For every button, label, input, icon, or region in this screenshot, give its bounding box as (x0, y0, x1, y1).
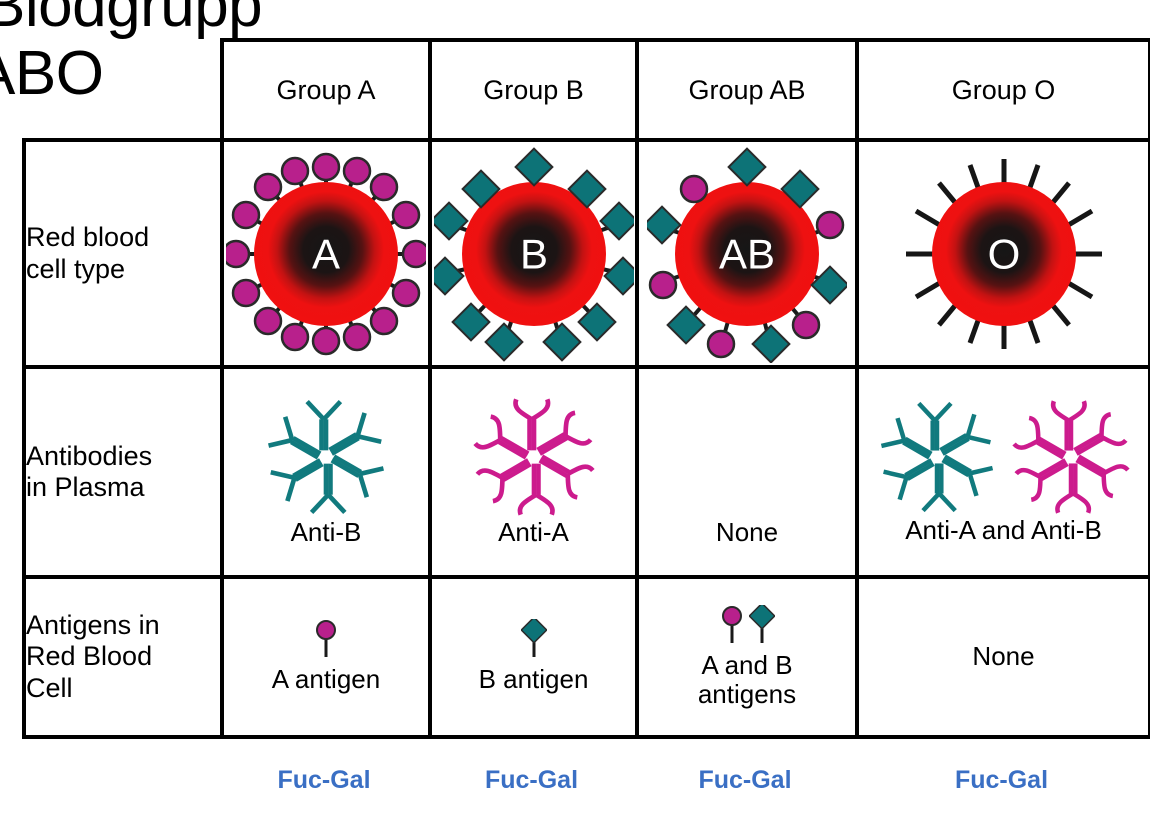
rbc-cell-group-a: A (222, 140, 430, 367)
fucgal-label: Fuc-Gal (277, 766, 370, 795)
a-antigen-icon (313, 619, 339, 661)
column-header-group-o: Group O (857, 40, 1150, 140)
anti-a-antibody-icon (1006, 398, 1136, 516)
row-label-line: Red Blood (26, 641, 220, 672)
fucgal-label: Fuc-Gal (955, 766, 1048, 795)
row-label-line: Red blood (26, 222, 220, 253)
rbc-cell-group-b: B (430, 140, 637, 367)
blood-group-table: Group A Group B Group AB Group O Red blo… (22, 38, 1150, 739)
table-row: Red blood cell type (24, 140, 1150, 367)
antibody-cell-group-a: Anti-B (222, 367, 430, 577)
blood-group-chart: Blodgrupp ABO Group A Group B Group AB G… (0, 0, 1150, 828)
column-header-group-b: Group B (430, 40, 637, 140)
b-antigen-icon (749, 605, 775, 647)
antigen-caption-line: A and B (698, 651, 796, 680)
rbc-cell-group-o: O (857, 140, 1150, 367)
row-label-red-blood-cell-type: Red blood cell type (24, 140, 222, 367)
antibody-caption-group-ab: None (716, 518, 778, 547)
red-blood-cell-ab-icon: AB (647, 145, 847, 363)
antibody-cell-group-o: Anti-A and Anti-B (857, 367, 1150, 577)
fucgal-label: Fuc-Gal (698, 766, 791, 795)
antigen-icon-group (521, 619, 547, 661)
rbc-letter-ab: AB (719, 230, 775, 277)
antibody-cell-group-ab: None (637, 367, 857, 577)
table-corner-blank (24, 40, 222, 140)
row-label-line: Antigens in (26, 610, 220, 641)
antibody-caption-group-b: Anti-A (498, 518, 569, 547)
antigen-icon-group (313, 619, 339, 661)
antibody-caption-group-a: Anti-B (291, 518, 362, 547)
red-blood-cell-a-icon: A (226, 145, 426, 363)
antibody-cluster-anti-a-and-anti-b (872, 398, 1136, 516)
antigen-caption-group-a: A antigen (272, 665, 380, 694)
antigen-cell-group-a: A antigen (222, 577, 430, 737)
antibody-cluster-anti-a (465, 396, 603, 518)
table-header-row: Group A Group B Group AB Group O (24, 40, 1150, 140)
antigen-cell-group-ab: A and B antigens (637, 577, 857, 737)
antigen-icon-group (719, 605, 775, 647)
row-label-line: cell type (26, 254, 220, 285)
red-blood-cell-b-icon: B (434, 145, 634, 363)
rbc-letter-b: B (519, 230, 547, 277)
rbc-letter-o: O (987, 230, 1020, 277)
fucgal-cell-group-a: Fuc-Gal (220, 760, 428, 800)
fucgal-cell-group-ab: Fuc-Gal (635, 760, 855, 800)
rbc-illustration-group-o: O (859, 142, 1148, 365)
row-label-line: Antibodies (26, 441, 220, 472)
rbc-illustration-group-ab: AB (639, 142, 855, 365)
rbc-letter-a: A (312, 230, 340, 277)
antibody-cell-group-b: Anti-A (430, 367, 637, 577)
rbc-cell-group-ab: AB (637, 140, 857, 367)
column-header-group-a: Group A (222, 40, 430, 140)
b-antigen-icon (521, 619, 547, 661)
fucgal-cell-group-o: Fuc-Gal (855, 760, 1148, 800)
antibody-caption-group-o: Anti-A and Anti-B (905, 516, 1102, 545)
a-antigen-icon (719, 605, 745, 647)
fucgal-label: Fuc-Gal (485, 766, 578, 795)
anti-a-antibody-icon (465, 396, 603, 518)
row-label-line: Cell (26, 673, 220, 704)
table-row: Antigens in Red Blood Cell A antigen (24, 577, 1150, 737)
rbc-illustration-group-b: B (432, 142, 635, 365)
row-label-line: in Plasma (26, 472, 220, 503)
antigen-caption-group-o: None (972, 642, 1034, 671)
antigen-cell-group-o: None (857, 577, 1150, 737)
anti-b-antibody-icon (257, 396, 395, 518)
red-blood-cell-o-icon: O (904, 145, 1104, 363)
antigen-caption-line: antigens (698, 680, 796, 709)
column-header-group-ab: Group AB (637, 40, 857, 140)
antigen-cell-group-b: B antigen (430, 577, 637, 737)
antigen-caption-group-ab: A and B antigens (698, 651, 796, 709)
rbc-illustration-group-a: A (224, 142, 428, 365)
row-label-antibodies-in-plasma: Antibodies in Plasma (24, 367, 222, 577)
fucgal-footer-row: Fuc-Gal Fuc-Gal Fuc-Gal Fuc-Gal (220, 760, 1148, 800)
anti-b-antibody-icon (872, 398, 1002, 516)
chart-title-line-1: Blodgrupp (0, 0, 262, 41)
row-label-antigens-in-red-blood-cell: Antigens in Red Blood Cell (24, 577, 222, 737)
fucgal-cell-group-b: Fuc-Gal (428, 760, 635, 800)
antigen-caption-group-b: B antigen (479, 665, 589, 694)
table-row: Antibodies in Plasma (24, 367, 1150, 577)
antibody-cluster-anti-b (257, 396, 395, 518)
